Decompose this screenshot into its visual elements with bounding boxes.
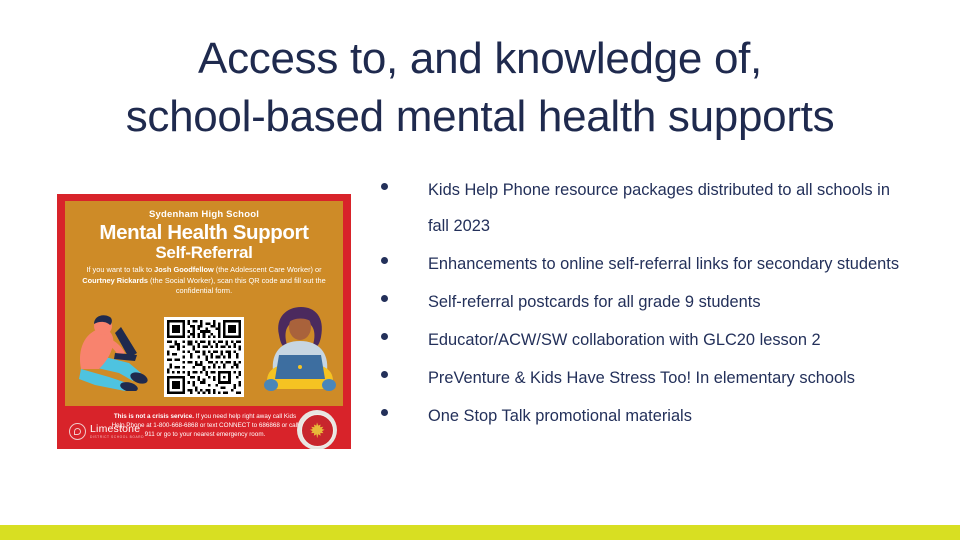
list-item: Self-referral postcards for all grade 9 … (381, 284, 911, 320)
title-line-1: Access to, and knowledge of, (40, 30, 920, 88)
staff-name-sw: Courtney Rickards (82, 276, 148, 285)
list-item-label: Kids Help Phone resource packages distri… (428, 172, 911, 244)
page-title: Access to, and knowledge of, school-base… (40, 30, 920, 146)
maple-leaf-icon (308, 421, 326, 439)
crest-inner (301, 414, 334, 447)
disclaimer-emphasis: This is not a crisis service. (114, 413, 194, 420)
list-item-label: Enhancements to online self-referral lin… (428, 246, 911, 282)
staff-name-acw: Josh Goodfellow (154, 265, 214, 274)
bullet-dot-icon (381, 409, 388, 416)
poster-instructions: If you want to talk to Josh Goodfellow (… (75, 265, 333, 297)
poster-heading-line-2: Self-Referral (75, 244, 333, 263)
list-item: Enhancements to online self-referral lin… (381, 246, 911, 282)
school-crest-icon (297, 410, 337, 449)
bullet-dot-icon (381, 295, 388, 302)
limestone-district-school-board-logo: Limestone DISTRICT SCHOOL BOARD (69, 423, 144, 440)
board-tagline: DISTRICT SCHOOL BOARD (90, 436, 144, 439)
poster-footer: This is not a crisis service. If you nee… (65, 406, 343, 449)
qr-code[interactable] (164, 317, 244, 397)
list-item: PreVenture & Kids Have Stress Too! In el… (381, 360, 911, 396)
bottom-accent-bar (0, 525, 960, 540)
list-item-label: Self-referral postcards for all grade 9 … (428, 284, 911, 320)
board-name: Limestone (90, 424, 144, 435)
list-item-label: One Stop Talk promotional materials (428, 398, 911, 434)
list-item: Kids Help Phone resource packages distri… (381, 172, 911, 244)
instructions-part-3: (the Social Worker), scan this QR code a… (148, 276, 326, 296)
poster-panel: Sydenham High School Mental Health Suppo… (65, 201, 343, 406)
poster-school-name: Sydenham High School (75, 209, 333, 220)
list-item-label: PreVenture & Kids Have Stress Too! In el… (428, 360, 911, 396)
list-item: Educator/ACW/SW collaboration with GLC20… (381, 322, 911, 358)
bullet-list: Kids Help Phone resource packages distri… (381, 172, 911, 436)
list-item-label: Educator/ACW/SW collaboration with GLC20… (428, 322, 911, 358)
instructions-part-1: If you want to talk to (86, 265, 154, 274)
bullet-dot-icon (381, 371, 388, 378)
poster-heading-line-1: Mental Health Support (75, 222, 333, 244)
bullet-dot-icon (381, 257, 388, 264)
instructions-part-2: (the Adolescent Care Worker) or (214, 265, 322, 274)
illustration-student-left (75, 311, 153, 396)
mental-health-poster-image: Sydenham High School Mental Health Suppo… (57, 194, 351, 449)
title-line-2: school-based mental health supports (40, 88, 920, 146)
bullet-dot-icon (381, 333, 388, 340)
bullet-dot-icon (381, 183, 388, 190)
list-item: One Stop Talk promotional materials (381, 398, 911, 434)
illustration-student-right (259, 305, 341, 396)
limestone-mark-icon (69, 423, 86, 440)
